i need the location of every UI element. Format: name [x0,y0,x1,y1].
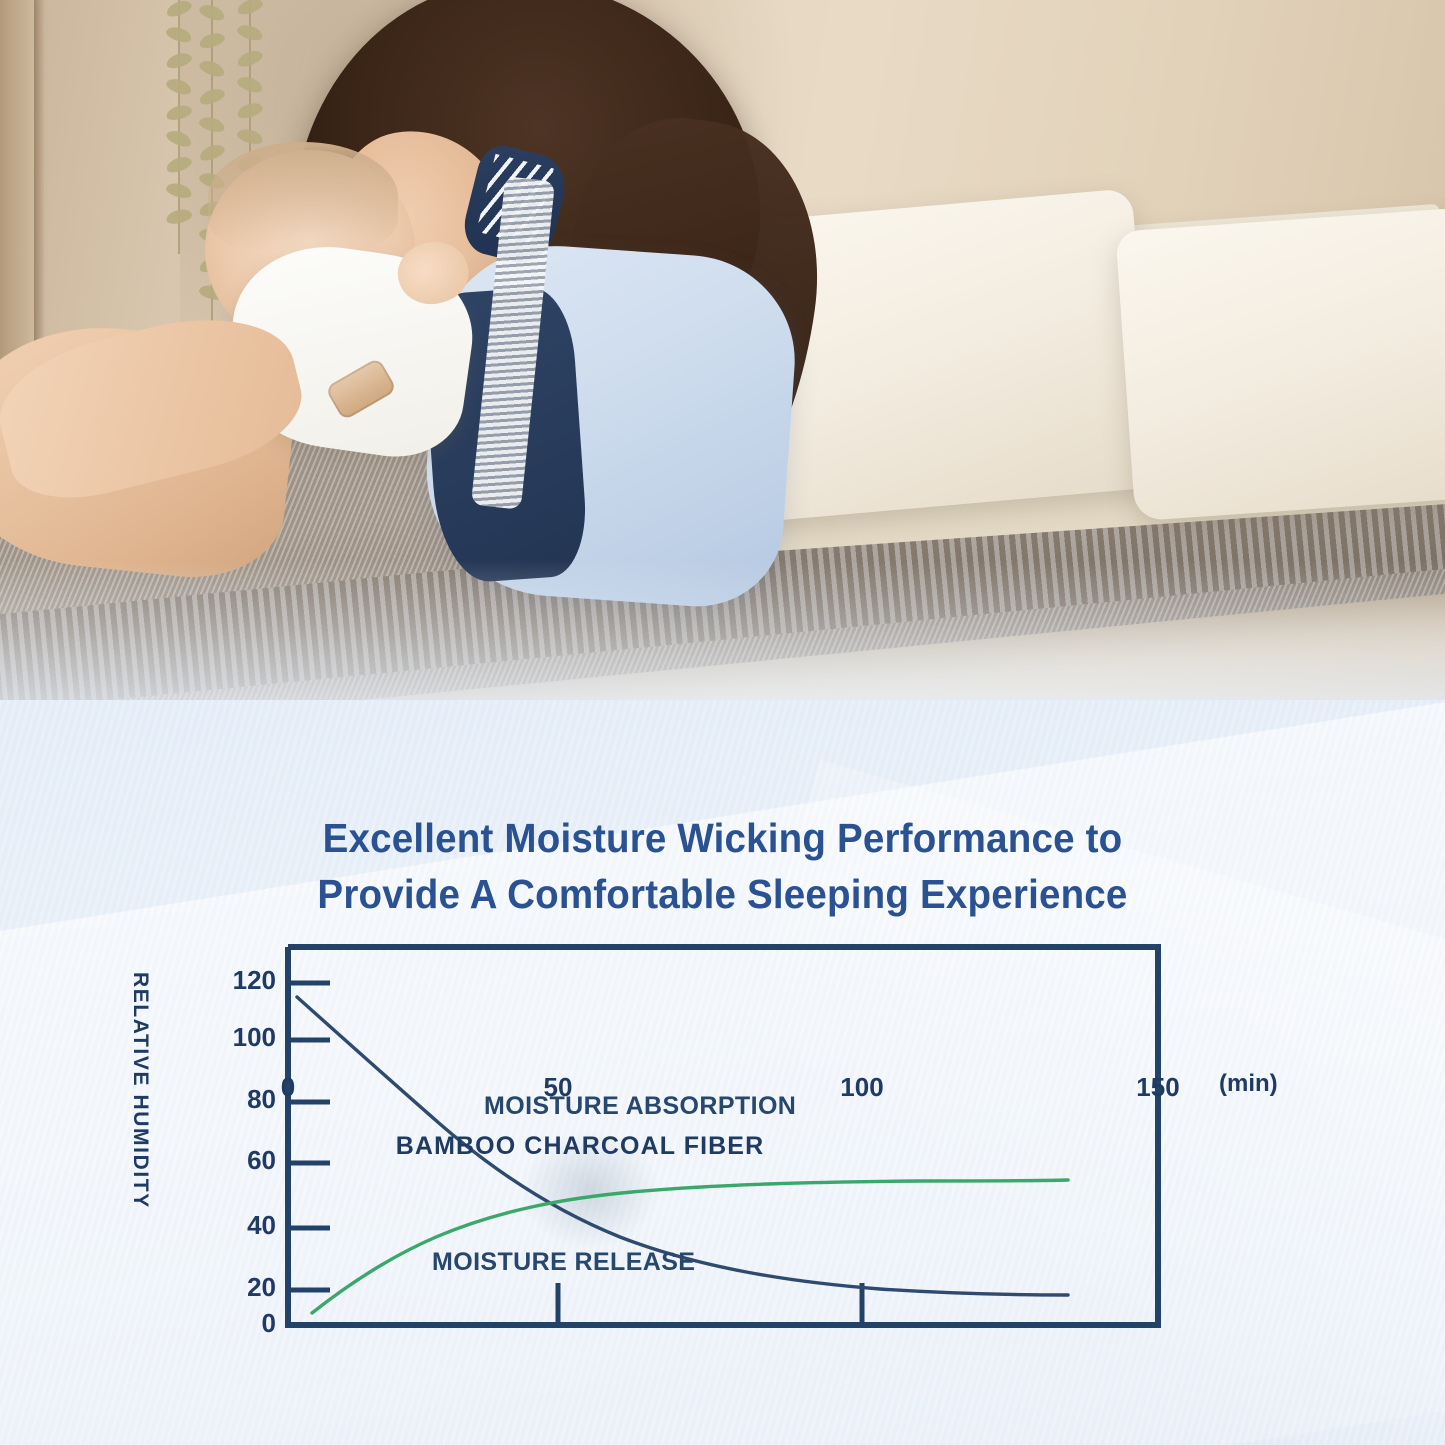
x-tick-0: 0 [281,1072,295,1103]
x-tick-marks [558,1283,862,1325]
y-tick-120: 120 [206,965,276,996]
pillow-right [1115,205,1445,521]
x-tick-150: 150 [1136,1072,1179,1103]
y-tick-0: 0 [206,1308,276,1339]
y-tick-20: 20 [206,1272,276,1303]
baby-hair [208,142,398,252]
x-axis-title: BAMBOO CHARCOAL FIBER [0,1132,1160,1161]
y-tick-labels: 120 100 80 60 40 20 0 [200,700,276,1445]
lifestyle-photo [0,0,1445,790]
y-tick-40: 40 [206,1210,276,1241]
x-tick-100: 100 [840,1072,883,1103]
x-axis-unit: (min) [1219,1070,1278,1098]
humidity-chart: RELATIVE HUMIDITY 120 100 80 60 40 20 0 … [0,700,1445,1445]
y-tick-100: 100 [206,1022,276,1053]
mother-and-baby [0,0,800,640]
y-tick-80: 80 [206,1084,276,1115]
annotation-moisture-absorption: MOISTURE ABSORPTION [484,1092,796,1121]
product-infographic-page: Excellent Moisture Wicking Performance t… [0,0,1445,1445]
annotation-moisture-release: MOISTURE RELEASE [432,1248,695,1277]
